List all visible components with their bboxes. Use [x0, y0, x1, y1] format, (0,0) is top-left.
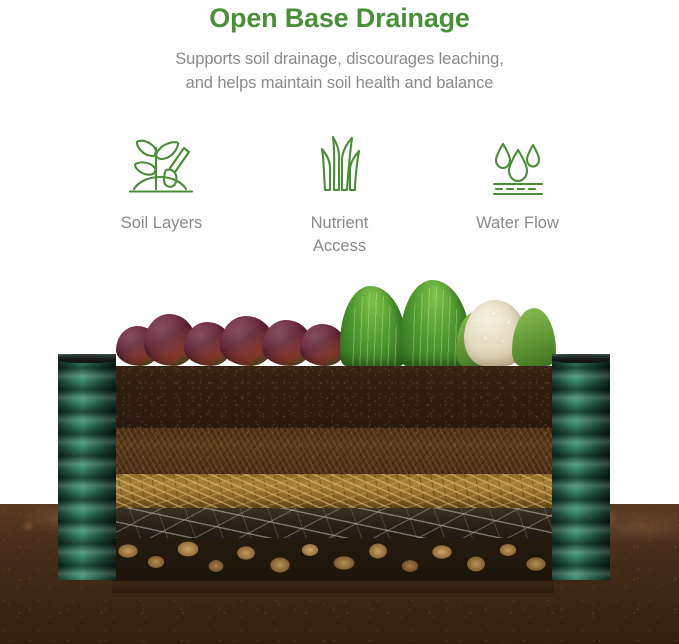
feature-label-soil-layers: Soil Layers — [121, 212, 203, 235]
feature-list: Soil Layers Nutrient Access — [0, 130, 679, 258]
subtitle-line-2: and helps maintain soil health and balan… — [80, 71, 600, 95]
soil-layer-straw — [112, 474, 554, 508]
left-post-top-rim — [58, 354, 116, 363]
plant-bok-choy — [340, 286, 406, 366]
feature-label-nutrient-access: Nutrient Access — [311, 212, 369, 258]
page-title: Open Base Drainage — [0, 2, 679, 34]
feature-nutrient-access: Nutrient Access — [251, 130, 429, 258]
right-post-top-rim — [552, 354, 610, 363]
subtitle-line-1: Supports soil drainage, discourages leac… — [80, 47, 600, 71]
raised-garden-bed-cross-section — [0, 280, 679, 644]
plant-row — [112, 280, 554, 366]
feature-label-water-flow: Water Flow — [476, 212, 559, 235]
seedling-shovel-icon — [126, 130, 198, 202]
soil-layer-stack — [112, 366, 554, 593]
right-corrugated-post — [552, 354, 610, 580]
left-corrugated-post — [58, 354, 116, 580]
soil-layer-compost-mulch — [112, 428, 554, 474]
soil-layer-cut-logs — [112, 538, 554, 581]
feature-label-line-2: Access — [313, 237, 366, 255]
water-droplets-icon — [482, 130, 554, 202]
left-post-corrugation — [58, 354, 116, 580]
feature-water-flow: Water Flow — [429, 130, 607, 235]
feature-soil-layers: Soil Layers — [73, 130, 251, 235]
grass-blades-icon — [304, 130, 376, 202]
right-post-corrugation — [552, 354, 610, 580]
soil-layer-twigs-branches — [112, 508, 554, 538]
soil-layer-topsoil — [112, 366, 554, 428]
header-section: Open Base Drainage Supports soil drainag… — [0, 0, 679, 95]
soil-layer-base-soil — [112, 581, 554, 593]
page-subtitle: Supports soil drainage, discourages leac… — [80, 47, 600, 95]
feature-label-line-1: Nutrient — [311, 214, 369, 232]
